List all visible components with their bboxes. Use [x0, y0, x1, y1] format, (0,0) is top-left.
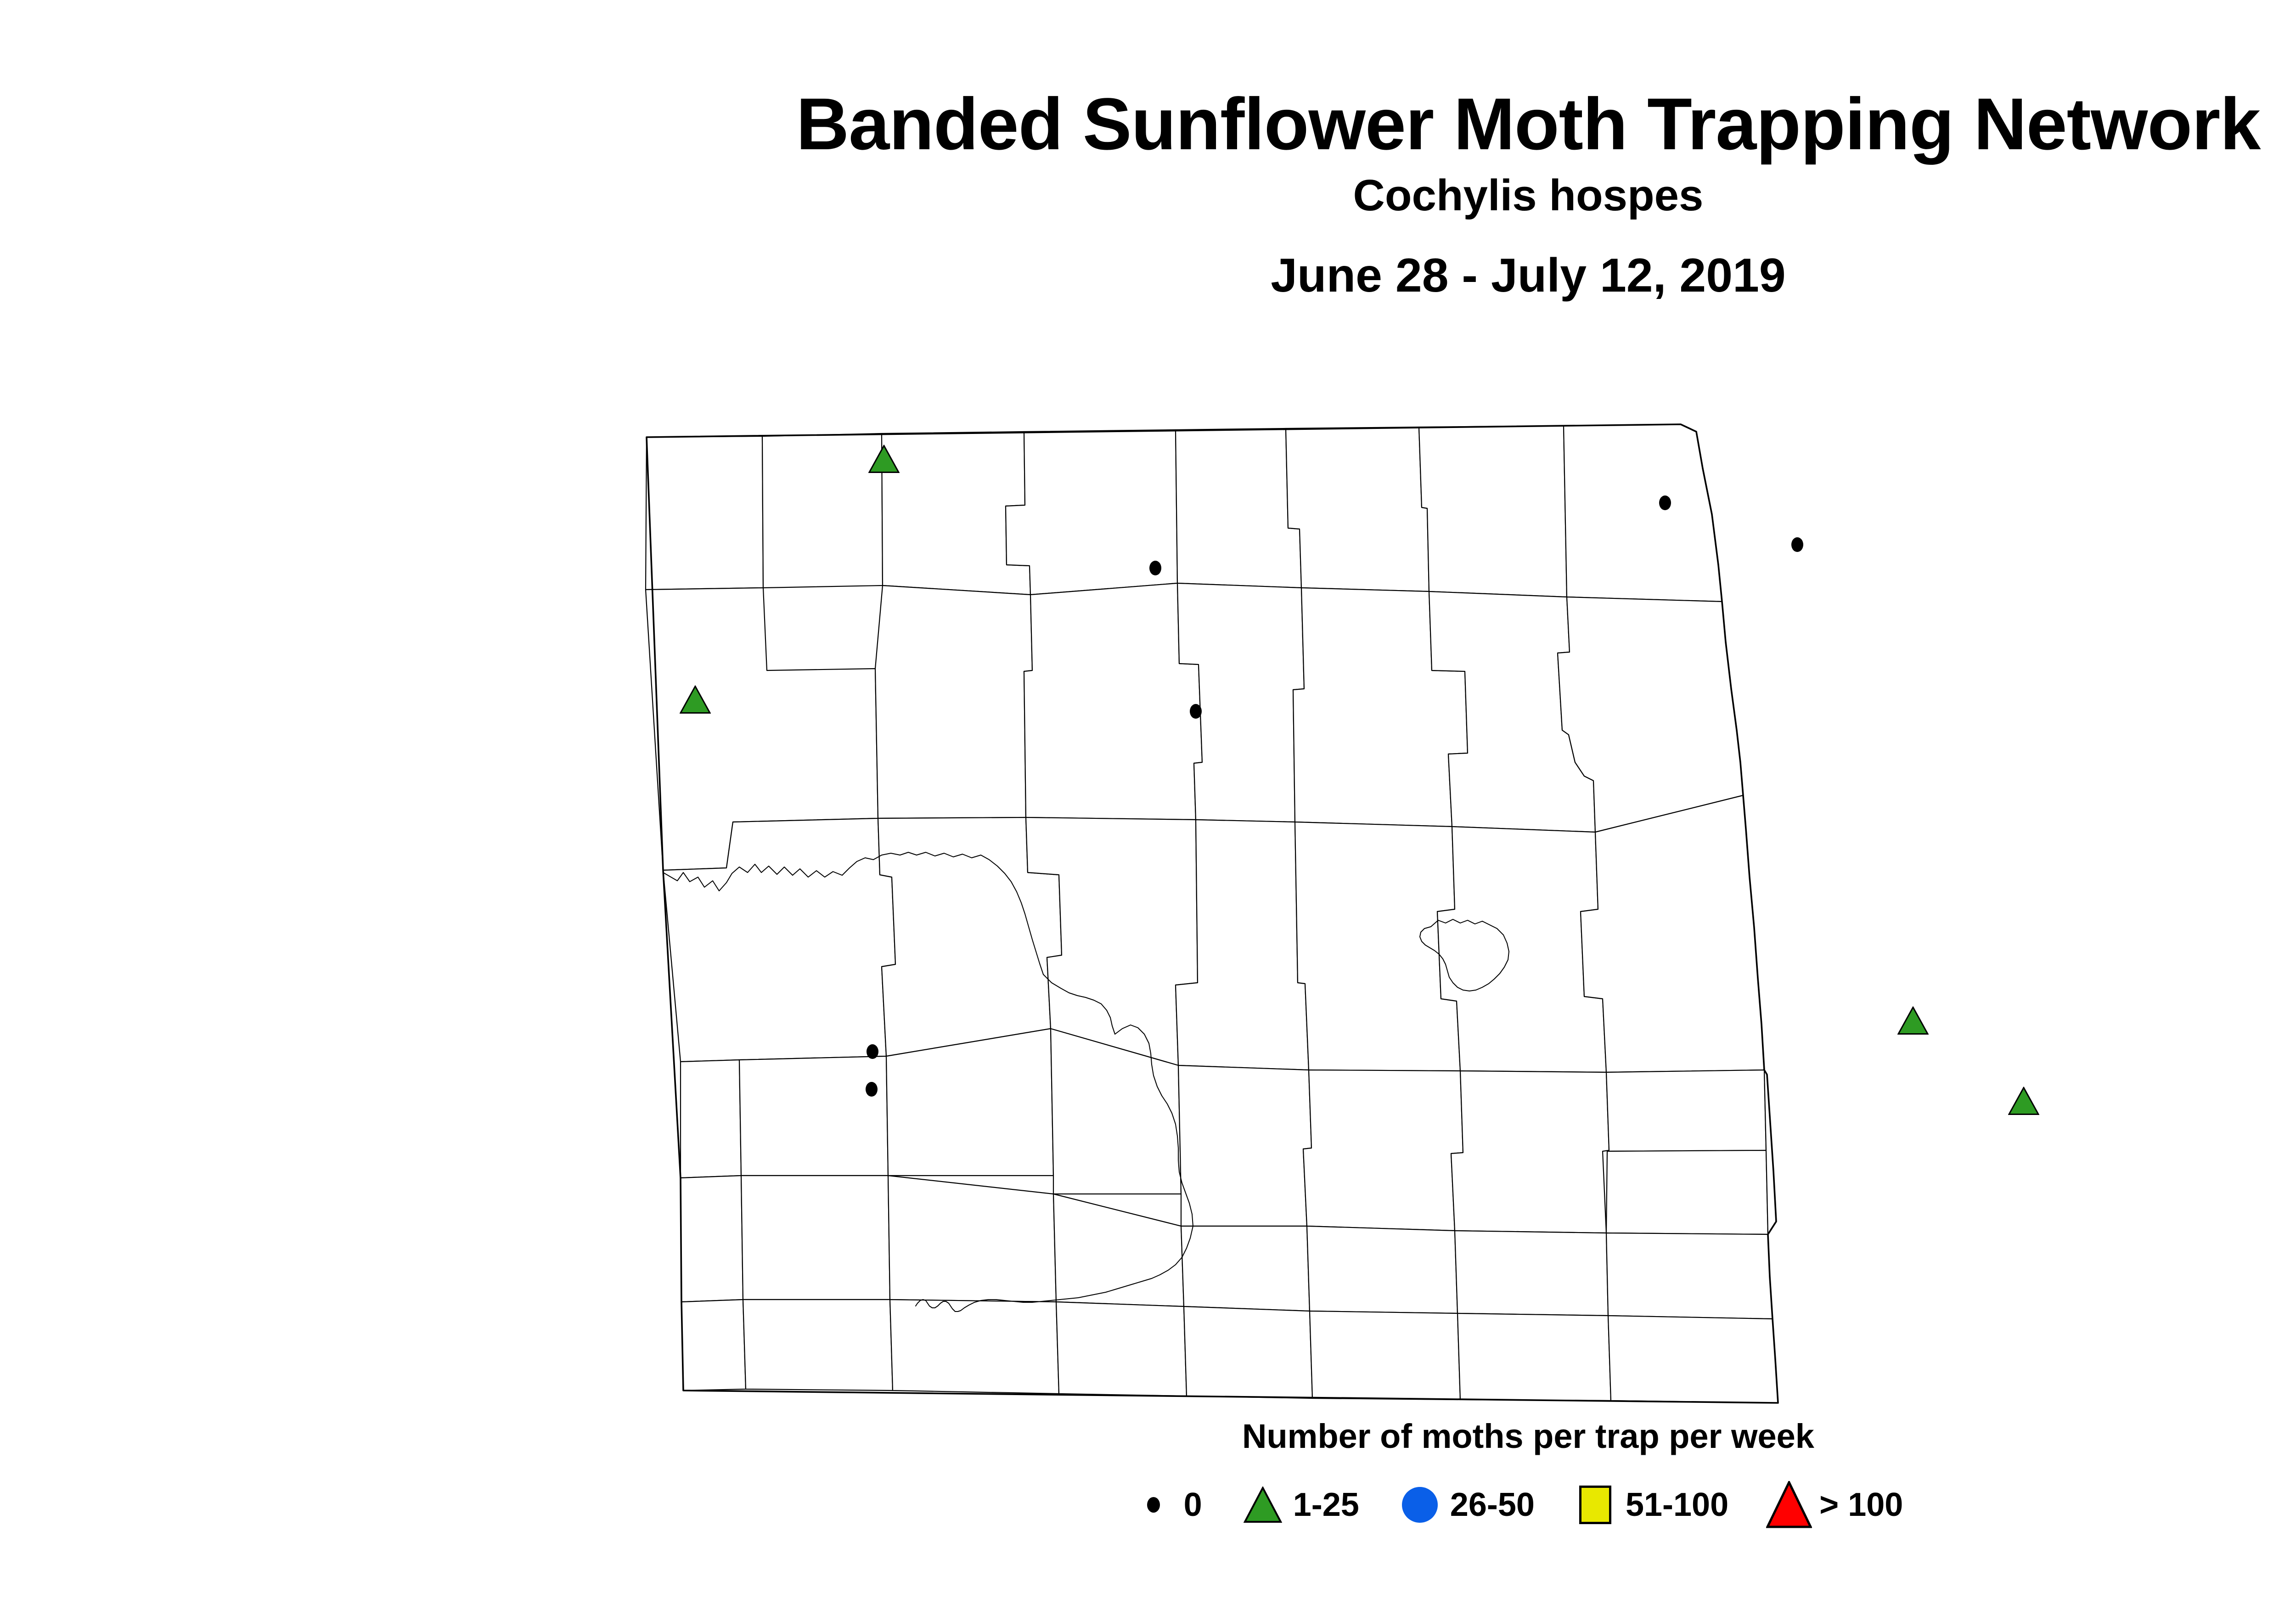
legend-item-26-50[interactable]: 26-50 — [1390, 1487, 1565, 1523]
trap-marker-black-dot[interactable] — [1149, 561, 1161, 575]
legend-swatch-51-100 — [1565, 1486, 1626, 1524]
date-range-subtitle: June 28 - July 12, 2019 — [0, 252, 2296, 299]
red-triangle-icon — [1766, 1481, 1812, 1529]
yellow-square-icon — [1579, 1486, 1611, 1524]
trap-marker-green-triangle[interactable] — [1897, 1007, 1929, 1037]
legend-label-51-100: 51-100 — [1626, 1488, 1759, 1521]
trap-marker-black-dot[interactable] — [866, 1082, 878, 1097]
legend-swatch-over-100 — [1759, 1481, 1819, 1529]
county-boundaries — [646, 424, 1778, 1403]
title-block: Banded Sunflower Moth Trapping Network C… — [0, 87, 2296, 299]
blue-circle-icon — [1402, 1487, 1438, 1523]
trap-marker-black-dot[interactable] — [1190, 704, 1202, 719]
trap-marker-green-triangle[interactable] — [2008, 1087, 2039, 1118]
legend: 0 1-25 26-50 51-100 — [0, 1481, 2296, 1529]
map-poster: Banded Sunflower Moth Trapping Network C… — [0, 0, 2296, 1610]
green-triangle-icon — [680, 686, 711, 714]
map-svg — [565, 413, 2218, 1410]
black-dot-icon — [1659, 495, 1671, 510]
legend-label-26-50: 26-50 — [1450, 1488, 1565, 1521]
legend-label-1-25: 1-25 — [1293, 1488, 1390, 1521]
trap-marker-black-dot[interactable] — [867, 1044, 878, 1059]
legend-item-over-100[interactable]: > 100 — [1759, 1481, 1933, 1529]
legend-swatch-1-25 — [1232, 1486, 1293, 1523]
north-dakota-county-map — [565, 413, 2218, 1410]
trap-marker-black-dot[interactable] — [1791, 537, 1803, 552]
green-triangle-icon — [2008, 1087, 2039, 1115]
legend-swatch-26-50 — [1390, 1487, 1450, 1523]
green-triangle-icon — [1897, 1007, 1929, 1035]
black-dot-icon — [1190, 704, 1202, 719]
trap-marker-black-dot[interactable] — [1659, 495, 1671, 510]
black-dot-icon — [1147, 1497, 1160, 1513]
page-title: Banded Sunflower Moth Trapping Network — [0, 87, 2296, 161]
green-triangle-icon — [868, 445, 900, 473]
legend-title: Number of moths per trap per week — [0, 1417, 2296, 1456]
black-dot-icon — [866, 1082, 878, 1097]
species-subtitle: Cochylis hospes — [0, 174, 2296, 218]
trap-marker-green-triangle[interactable] — [868, 445, 900, 476]
black-dot-icon — [1791, 537, 1803, 552]
legend-item-1-25[interactable]: 1-25 — [1232, 1486, 1390, 1523]
legend-label-0: 0 — [1184, 1488, 1232, 1521]
green-triangle-icon — [1244, 1486, 1282, 1523]
legend-label-over-100: > 100 — [1819, 1488, 1933, 1521]
legend-item-0[interactable]: 0 — [1123, 1488, 1232, 1521]
legend-item-51-100[interactable]: 51-100 — [1565, 1486, 1759, 1524]
legend-swatch-0 — [1123, 1497, 1184, 1513]
trap-marker-green-triangle[interactable] — [680, 686, 711, 716]
black-dot-icon — [1149, 561, 1161, 575]
black-dot-icon — [867, 1044, 878, 1059]
